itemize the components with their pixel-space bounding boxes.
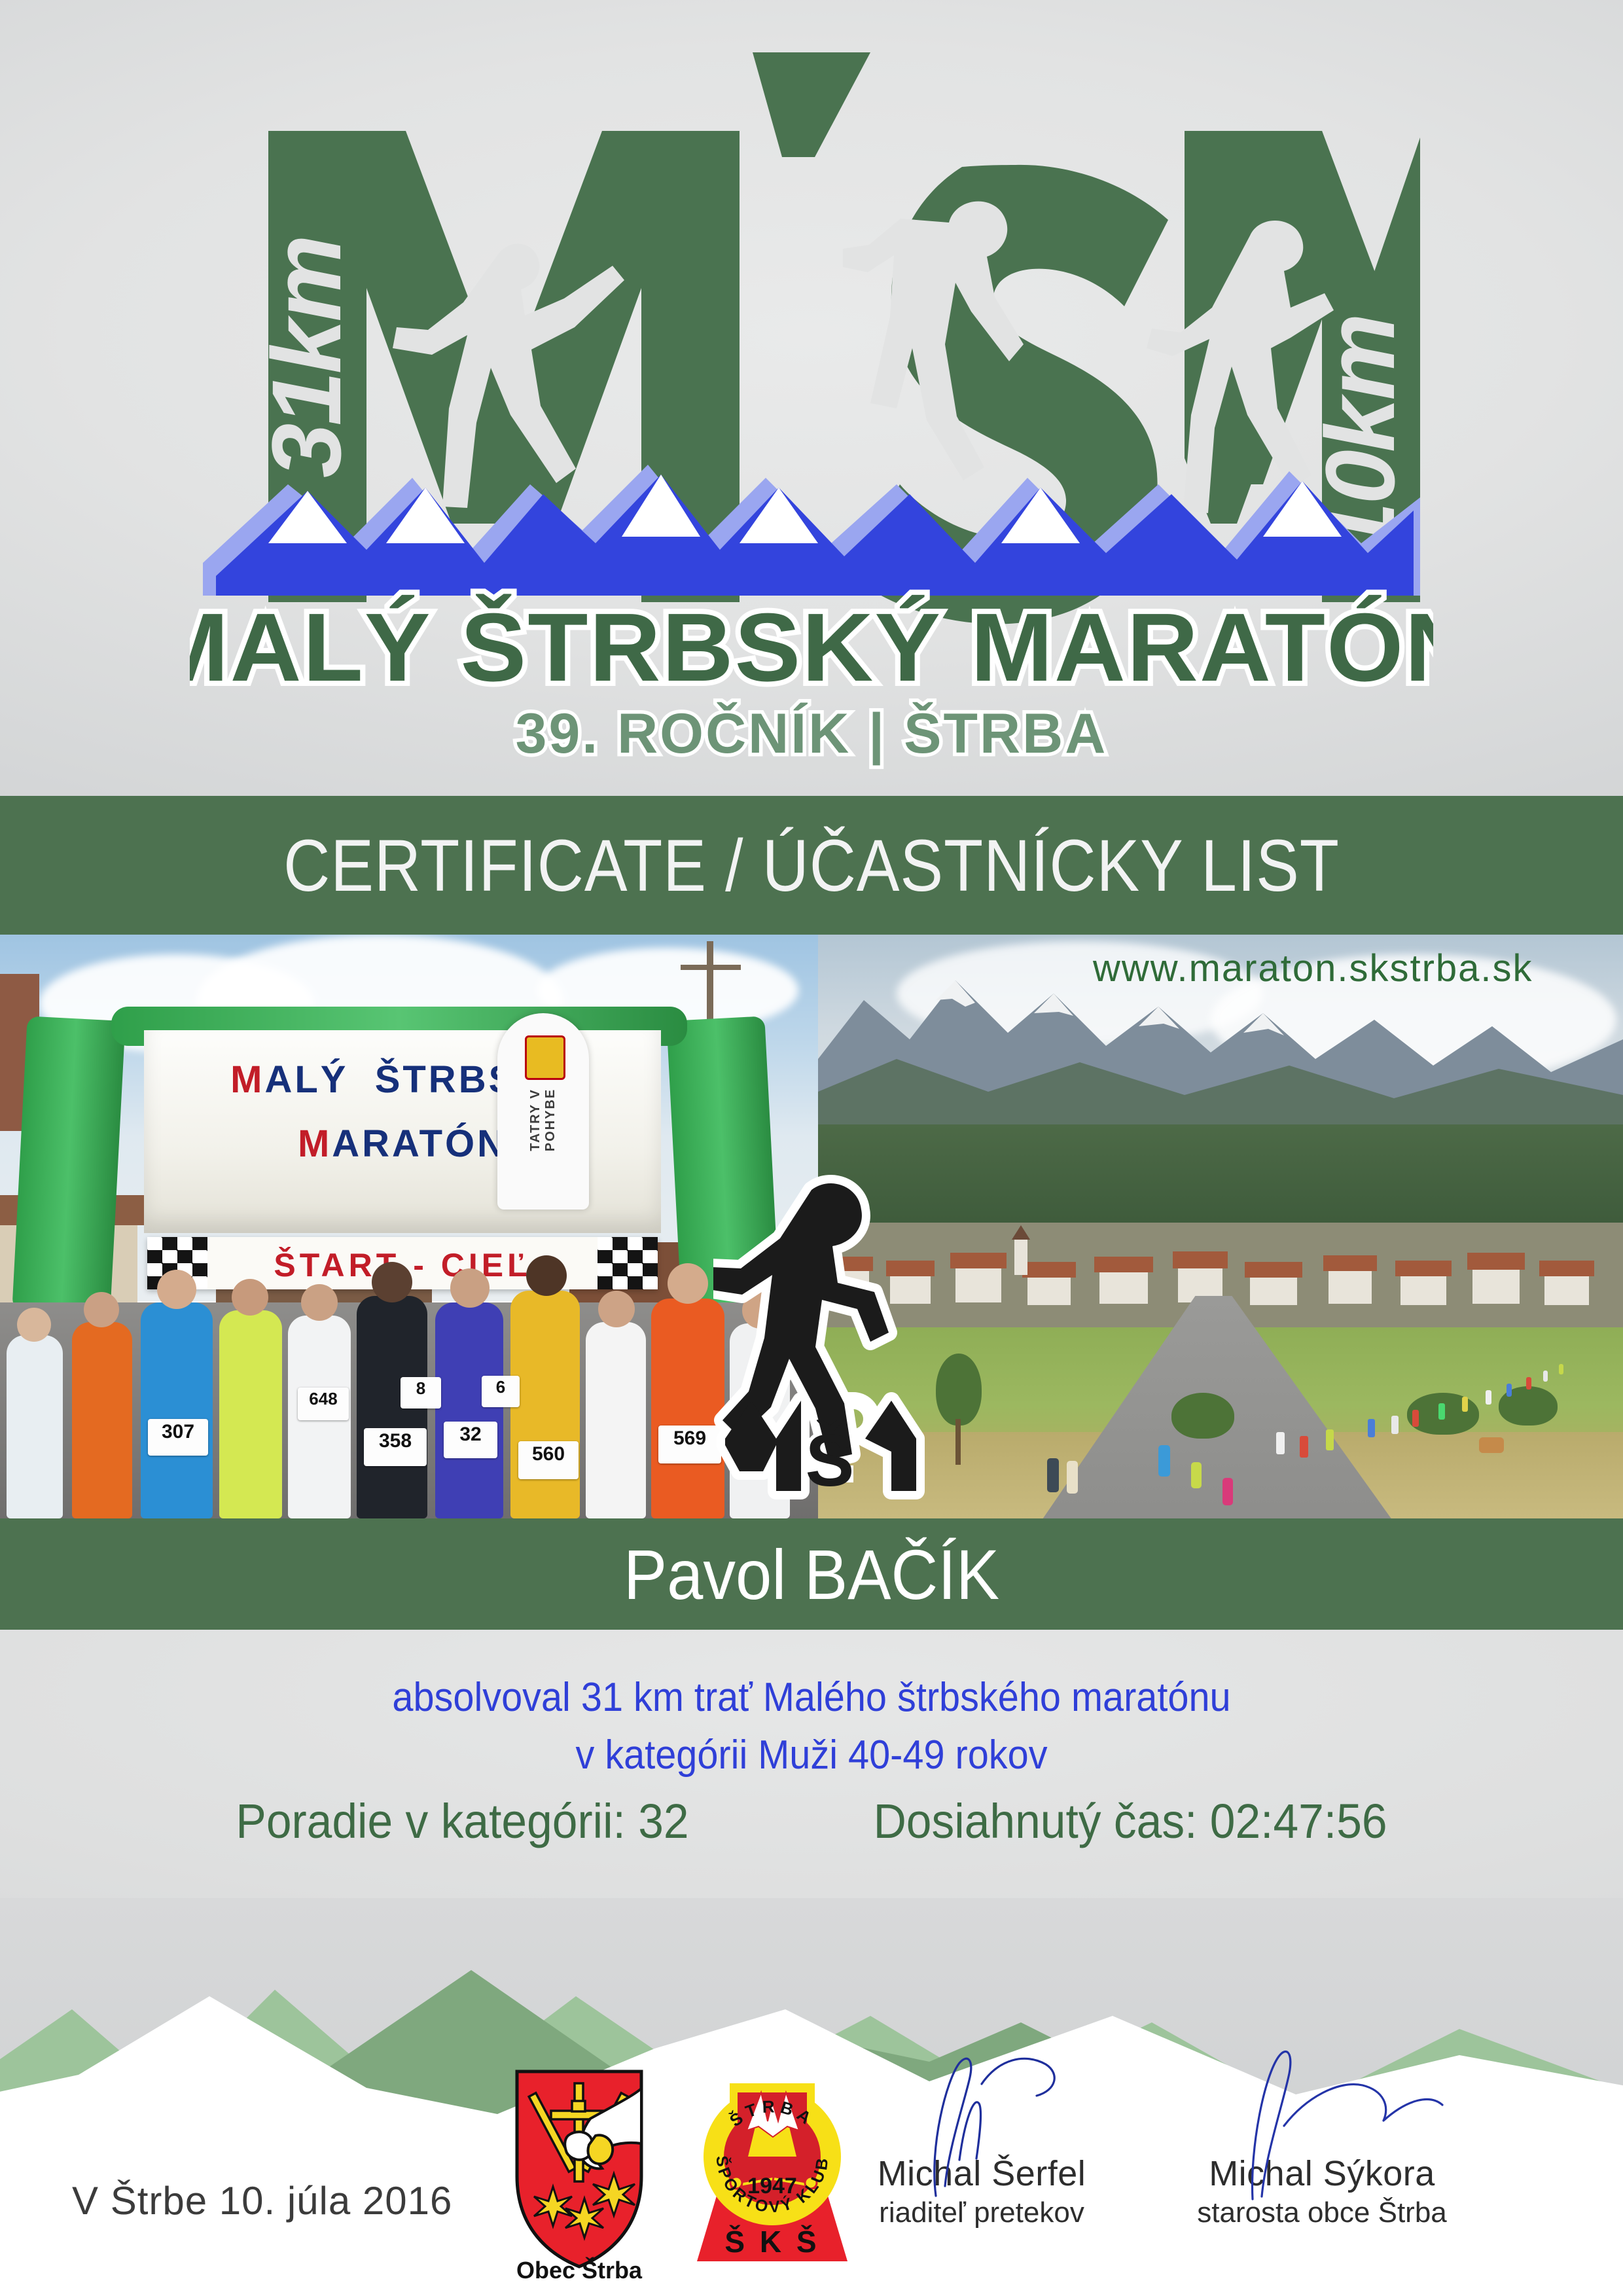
distance-left-text: 31km bbox=[251, 237, 361, 478]
runner-dot bbox=[1368, 1419, 1375, 1437]
runner-dot bbox=[1300, 1436, 1308, 1458]
certificate-title: CERTIFICATE / ÚČASTNÍCKY LIST bbox=[98, 796, 1525, 935]
msm-logo-svg: 31km 10km MALÝ ŠTR bbox=[190, 26, 1433, 785]
club-abbrev: Š K Š bbox=[724, 2225, 819, 2259]
msm-runner-badge: Š bbox=[713, 1164, 929, 1504]
achievement-area: absolvoval 31 km trať Malého štrbského m… bbox=[0, 1630, 1623, 1944]
hero-header: 31km 10km MALÝ ŠTR bbox=[0, 0, 1623, 796]
runner-dot bbox=[1222, 1478, 1233, 1505]
bib-number: 307 bbox=[148, 1419, 208, 1456]
runner-dot bbox=[1462, 1397, 1468, 1412]
club-year: 1947 bbox=[747, 2174, 797, 2198]
photo-race-start: MALÝ ŠTRBSKÝ MARATÓN ŠTART - CIEĽ TATRY … bbox=[0, 935, 818, 1518]
photo-countryside: www.maraton.skstrba.sk bbox=[818, 935, 1623, 1518]
bib-number: 569 bbox=[658, 1426, 721, 1463]
svg-text:31km: 31km bbox=[251, 237, 361, 478]
participant-name: Pavol BAČÍK bbox=[65, 1518, 1558, 1630]
bib-number: 560 bbox=[518, 1441, 579, 1479]
results-row: Poradie v kategórii: 32 Dosiahnutý čas: … bbox=[48, 1793, 1574, 1849]
signature-name: Michal Sýkora bbox=[1171, 2153, 1472, 2194]
bib-number: 6 bbox=[482, 1376, 520, 1407]
photo-strip: MALÝ ŠTRBSKÝ MARATÓN ŠTART - CIEĽ TATRY … bbox=[0, 935, 1623, 1518]
runner-dot bbox=[1526, 1377, 1531, 1390]
runner-dot bbox=[1412, 1410, 1419, 1427]
runner-dot bbox=[1276, 1432, 1285, 1454]
runner-dot bbox=[1559, 1364, 1563, 1374]
cow bbox=[1479, 1437, 1504, 1453]
signature-role: starosta obce Štrba bbox=[1171, 2197, 1472, 2229]
runner-dot bbox=[1543, 1371, 1548, 1382]
obec-strba-label: Obec Štrba bbox=[516, 2256, 643, 2281]
runner-dot bbox=[1191, 1462, 1202, 1488]
runner-crowd: 307 358 32 560 569 bbox=[0, 1237, 818, 1518]
spectator bbox=[1158, 1445, 1170, 1477]
spectator bbox=[1047, 1458, 1059, 1492]
certificate-page: 31km 10km MALÝ ŠTR bbox=[0, 0, 1623, 2296]
runner-dot bbox=[1326, 1429, 1334, 1450]
runner-dot bbox=[1391, 1416, 1399, 1434]
achievement-line-1: absolvoval 31 km trať Malého štrbského m… bbox=[57, 1669, 1566, 1727]
website-url: www.maraton.skstrba.sk bbox=[1093, 946, 1533, 990]
sks-club-logo: ŠTRBA ŠPORTOVÝ KLUB 1947 Š K Š bbox=[690, 2058, 854, 2281]
signature-name: Michal Šerfel bbox=[831, 2153, 1132, 2194]
msm-badge-label: Š bbox=[806, 1420, 855, 1501]
side-flag: TATRY V POHYBE bbox=[497, 1013, 589, 1210]
event-logo: 31km 10km MALÝ ŠTR bbox=[0, 0, 1623, 796]
bib-number: 358 bbox=[364, 1428, 427, 1466]
place-date: V Štrbe 10. júla 2016 bbox=[72, 2178, 452, 2223]
edition-text: 39. ROČNÍK | ŠTRBA bbox=[516, 702, 1108, 765]
achievement-line-2: v kategórii Muži 40-49 rokov bbox=[57, 1727, 1566, 1784]
signature-role: riaditeľ pretekov bbox=[831, 2197, 1132, 2229]
signature-block-2: Michal Sýkora starosta obce Štrba bbox=[1171, 2153, 1472, 2229]
time-value: Dosiahnutý čas: 02:47:56 bbox=[874, 1793, 1387, 1849]
footer: V Štrbe 10. júla 2016 Obec Štrba bbox=[0, 2127, 1623, 2296]
runner-dot bbox=[1438, 1403, 1445, 1420]
signature-block-1: Michal Šerfel riaditeľ pretekov bbox=[831, 2153, 1132, 2229]
bib-number: 648 bbox=[298, 1388, 349, 1420]
event-name-text: MALÝ ŠTRBSKÝ MARATÓN bbox=[190, 592, 1433, 701]
rank-value: Poradie v kategórii: 32 bbox=[236, 1793, 688, 1849]
spectator bbox=[1067, 1461, 1078, 1494]
bib-number: 32 bbox=[444, 1422, 497, 1458]
bib-number: 8 bbox=[401, 1377, 441, 1408]
runner-dot bbox=[1507, 1384, 1512, 1397]
achievement-text: absolvoval 31 km trať Malého štrbského m… bbox=[57, 1669, 1566, 1784]
certificate-title-band: CERTIFICATE / ÚČASTNÍCKY LIST bbox=[0, 796, 1623, 935]
runner-dot bbox=[1486, 1390, 1491, 1405]
obec-strba-crest: Obec Štrba bbox=[504, 2065, 654, 2281]
participant-name-band: Pavol BAČÍK bbox=[0, 1518, 1623, 1630]
